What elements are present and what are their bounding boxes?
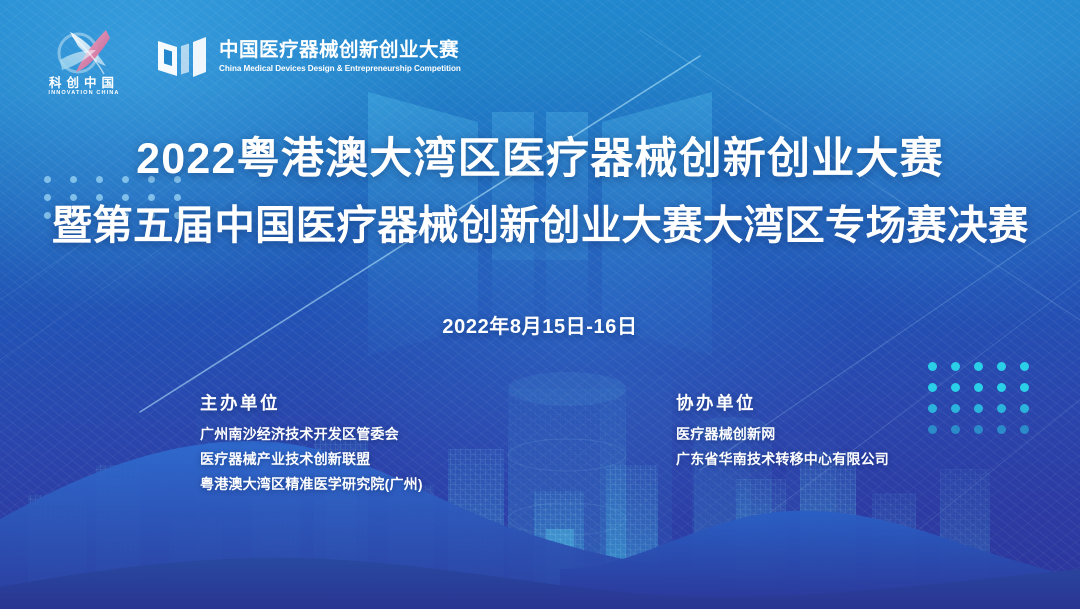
co-host-item: 医疗器械创新网: [676, 424, 889, 444]
bottom-waves: [0, 419, 1080, 609]
logo-innovation-china: 科创中国 INNOVATION CHINA: [34, 26, 134, 100]
title-line-1: 2022粤港澳大湾区医疗器械创新创业大赛: [0, 130, 1080, 188]
dot-grid-right: [928, 362, 1032, 438]
host-item: 广州南沙经济技术开发区管委会: [200, 424, 423, 444]
host-item: 医疗器械产业技术创新联盟: [200, 449, 423, 469]
host-item: 粤港澳大湾区精准医学研究院(广州): [200, 474, 423, 494]
open-door-icon: [156, 32, 208, 80]
innovation-china-en: INNOVATION CHINA: [34, 90, 134, 96]
competition-text: 中国医疗器械创新创业大赛 China Medical Devices Desig…: [219, 39, 468, 74]
logo-competition: 中国医疗器械创新创业大赛 China Medical Devices Desig…: [156, 32, 468, 80]
co-host-item: 广东省华南技术转移中心有限公司: [676, 449, 889, 469]
logo-bar: 科创中国 INNOVATION CHINA 中国医疗器械创新创业大赛 China…: [34, 26, 468, 100]
conference-poster: 科创中国 INNOVATION CHINA 中国医疗器械创新创业大赛 China…: [0, 0, 1080, 609]
co-host-block: 协办单位 医疗器械创新网 广东省华南技术转移中心有限公司: [676, 390, 889, 469]
competition-en: China Medical Devices Design & Entrepren…: [219, 63, 461, 74]
host-block: 主办单位 广州南沙经济技术开发区管委会 医疗器械产业技术创新联盟 粤港澳大湾区精…: [200, 390, 423, 494]
innovation-china-cn: 科创中国: [34, 76, 134, 90]
host-heading: 主办单位: [200, 390, 423, 415]
competition-cn: 中国医疗器械创新创业大赛: [219, 39, 468, 61]
event-date: 2022年8月15日-16日: [0, 310, 1080, 339]
bird-swoosh-icon: [48, 26, 122, 78]
title-line-2: 暨第五届中国医疗器械创新创业大赛大湾区专场赛决赛: [0, 196, 1080, 254]
co-host-heading: 协办单位: [676, 390, 889, 415]
title-block: 2022粤港澳大湾区医疗器械创新创业大赛 暨第五届中国医疗器械创新创业大赛大湾区…: [0, 130, 1080, 254]
